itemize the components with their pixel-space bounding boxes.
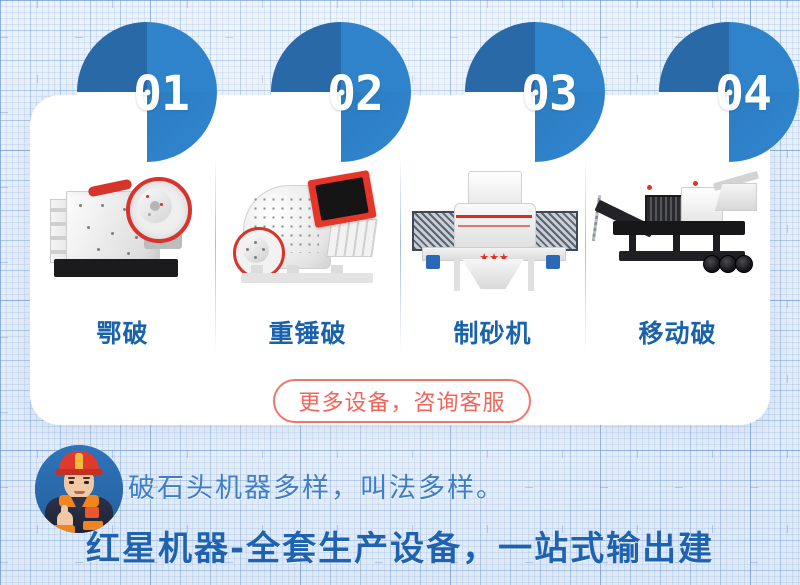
step-badge-01: 01	[77, 22, 217, 162]
product-label: 鄂破	[96, 314, 148, 350]
hard-hat-brim	[55, 469, 103, 475]
mobile-crusher-image	[595, 155, 760, 300]
step-badge-03: 03	[465, 22, 605, 162]
avatar-eye-right	[84, 481, 89, 484]
step-badge-02: 02	[271, 22, 411, 162]
avatar-mouth	[74, 491, 85, 494]
badge-number: 01	[91, 24, 231, 164]
footer-subline: 破石头机器多样，叫法多样。	[128, 466, 505, 505]
avatar-chest-logo	[85, 507, 99, 518]
avatar	[35, 445, 123, 533]
avatar-cuff	[51, 525, 75, 533]
product-label: 重锤破	[268, 314, 346, 350]
avatar-brow-left	[68, 477, 75, 479]
sand-making-machine-image: ★★★	[410, 155, 575, 300]
consult-service-button[interactable]: 更多设备，咨询客服	[273, 379, 531, 423]
product-label: 移动破	[638, 314, 716, 350]
badge-number: 02	[285, 24, 425, 164]
jaw-crusher-image	[40, 155, 205, 300]
avatar-eye-left	[69, 481, 74, 484]
impact-crusher-image	[225, 155, 390, 300]
avatar-brow-right	[83, 477, 90, 479]
badge-number: 04	[673, 24, 800, 164]
product-label: 制砂机	[453, 314, 531, 350]
thumbs-up-thumb	[61, 505, 68, 517]
footer-headline: 红星机器-全套生产设备，一站式输出建	[86, 521, 714, 570]
step-badge-04: 04	[659, 22, 799, 162]
promo-banner: 鄂破	[0, 0, 800, 585]
badge-number: 03	[479, 24, 619, 164]
